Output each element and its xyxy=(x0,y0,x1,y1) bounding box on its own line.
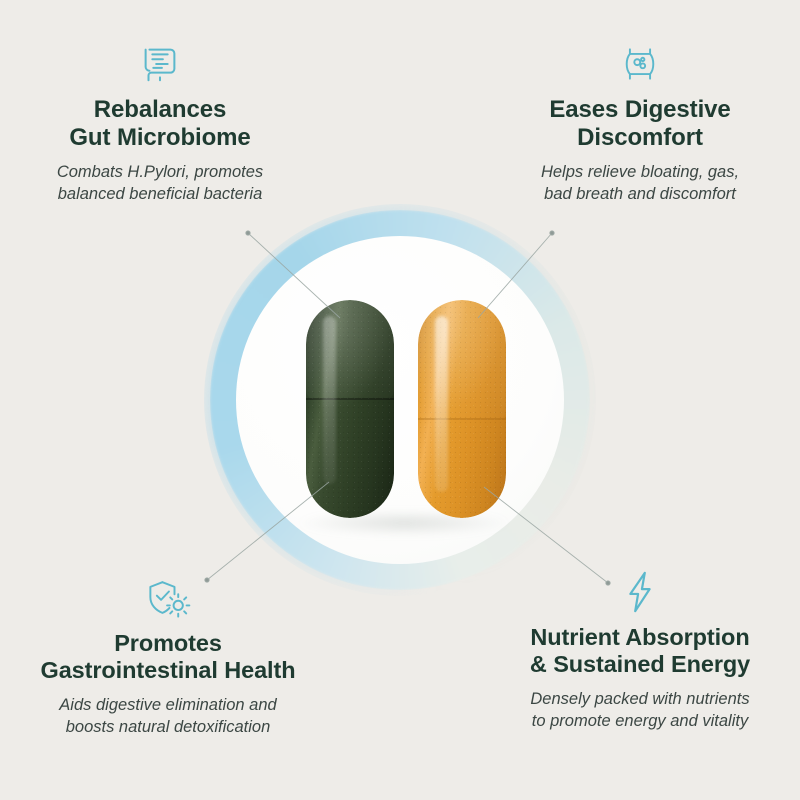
benefit-block-eases-digestive-discomfort: Eases Digestive Discomfort Helps relieve… xyxy=(490,38,790,205)
benefit-title: Promotes Gastrointestinal Health xyxy=(18,630,318,685)
benefit-title: Eases Digestive Discomfort xyxy=(490,96,790,152)
benefit-subtitle: Helps relieve bloating, gas, bad breath … xyxy=(490,161,790,205)
benefit-block-promotes-gastrointestinal-health: Promotes Gastrointestinal Health Aids di… xyxy=(18,572,318,738)
benefit-block-rebalances-gut-microbiome: Rebalances Gut Microbiome Combats H.Pylo… xyxy=(10,38,310,205)
shield-check-germ-icon xyxy=(18,572,318,624)
benefit-subtitle: Densely packed with nutrients to promote… xyxy=(490,688,790,732)
benefit-subtitle: Combats H.Pylori, promotes balanced bene… xyxy=(10,161,310,205)
connector-dot-top-left xyxy=(246,231,250,235)
benefit-title: Rebalances Gut Microbiome xyxy=(10,96,310,152)
intestines-icon xyxy=(10,38,310,90)
benefit-title: Nutrient Absorption & Sustained Energy xyxy=(490,624,790,679)
infographic-canvas: Rebalances Gut Microbiome Combats H.Pylo… xyxy=(0,0,800,800)
benefit-subtitle: Aids digestive elimination and boosts na… xyxy=(18,694,318,738)
benefit-block-nutrient-absorption-sustained-energy: Nutrient Absorption & Sustained Energy D… xyxy=(490,566,790,732)
connector-dot-top-right xyxy=(550,231,554,235)
connector-top-left xyxy=(248,233,340,318)
connector-top-right xyxy=(478,233,552,318)
connector-bottom-left xyxy=(207,482,329,580)
stomach-bloating-icon xyxy=(490,38,790,90)
lightning-bolt-icon xyxy=(490,566,790,618)
